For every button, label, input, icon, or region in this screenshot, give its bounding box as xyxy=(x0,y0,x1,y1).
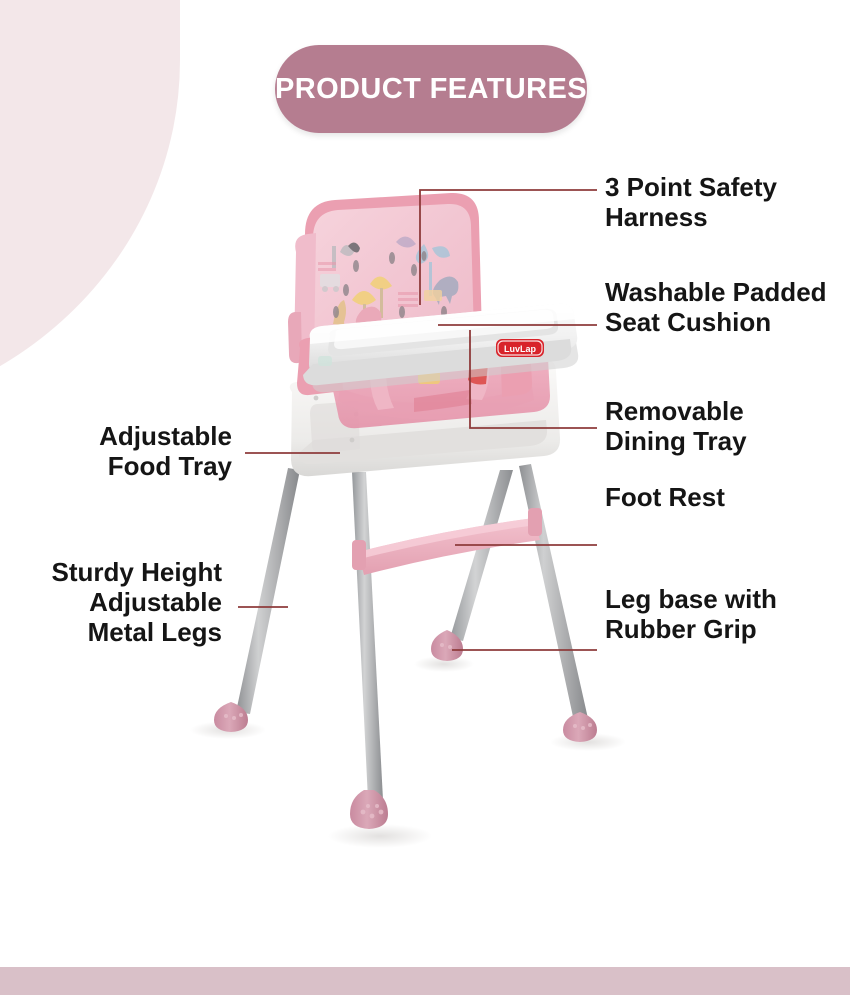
callout-label-safety-harness: 3 Point Safety Harness xyxy=(605,172,845,232)
callout-label-dining-tray: Removable Dining Tray xyxy=(605,396,845,456)
callout-label-leg-base: Leg base with Rubber Grip xyxy=(605,584,845,644)
leader-safety-harness xyxy=(420,190,597,305)
callout-label-food-tray: Adjustable Food Tray xyxy=(20,421,232,481)
product-features-infographic: LuvLap PRODUCT FEATURES 3 Point S xyxy=(0,0,850,995)
header-banner: PRODUCT FEATURES xyxy=(275,45,587,133)
page-title: PRODUCT FEATURES xyxy=(275,73,587,106)
bottom-color-band xyxy=(0,967,850,995)
leader-dining-tray xyxy=(470,330,597,428)
callout-label-foot-rest: Foot Rest xyxy=(605,482,845,512)
callout-label-metal-legs: Sturdy Height Adjustable Metal Legs xyxy=(10,557,222,647)
callout-label-seat-cushion: Washable Padded Seat Cushion xyxy=(605,277,850,337)
